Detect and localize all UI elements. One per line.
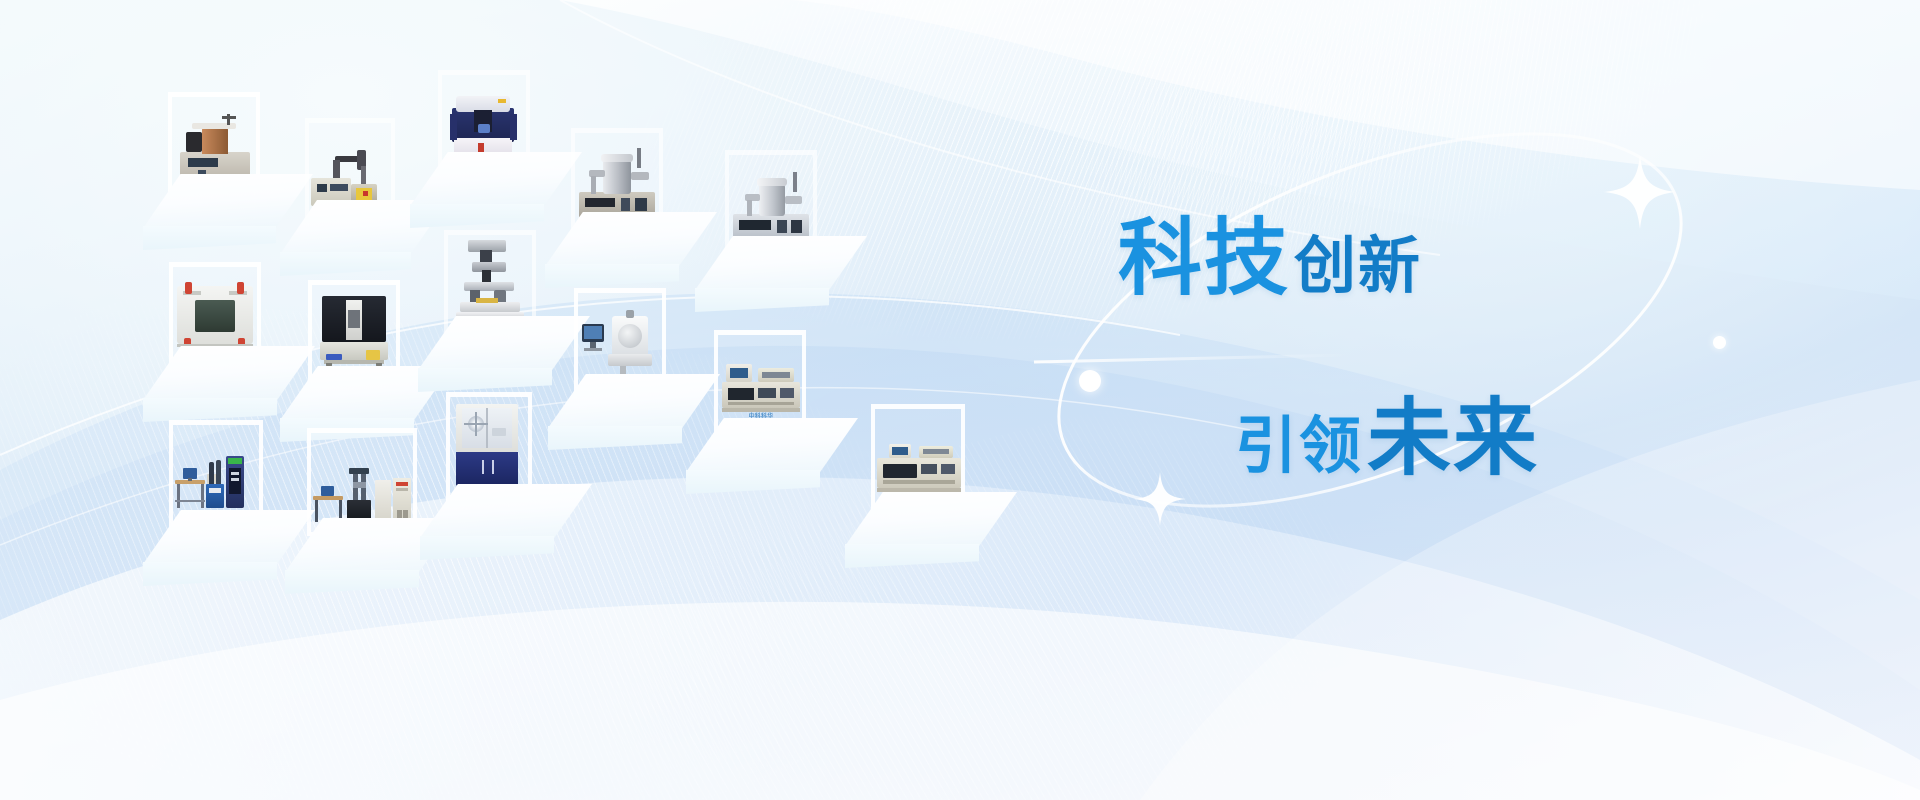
machine-control-console-system: 中科科华 ZHONGKEKEHUA bbox=[875, 438, 963, 500]
headline-line1-strong: 科技 bbox=[1118, 216, 1290, 300]
machine-environmental-test-chamber: 中科科华 ZHONGKEKEHUA bbox=[175, 280, 255, 356]
headline-line-1: 科技 创新 bbox=[1118, 216, 1422, 300]
machine-thermal-conductivity-meter: 中科科华 ZHONGKEKEHUA bbox=[720, 358, 802, 424]
machine-magnetron-sputtering-system: 中科科华 ZHONGKEKEHUA bbox=[731, 166, 813, 246]
machine-metallographic-microscope: 中科科华 ZHONGKEKEHUA bbox=[452, 240, 532, 326]
product-pedestal bbox=[845, 492, 1017, 570]
machine-salt-spray-test-cabinet: 中科科华 ZHONGKEKEHUA bbox=[452, 404, 526, 496]
orbit-end-dot bbox=[1713, 336, 1726, 349]
orbit-node-dot bbox=[1079, 370, 1101, 392]
headline-line2-light: 引领 bbox=[1235, 415, 1363, 477]
headline-line2-strong: 未来 bbox=[1367, 396, 1539, 480]
product-pedestal bbox=[420, 484, 592, 562]
product-card-14[interactable]: 中科科华 ZHONGKEKEHUA bbox=[845, 404, 1035, 570]
product-pedestal bbox=[686, 418, 858, 496]
sparkle-large-top-icon bbox=[1604, 155, 1676, 229]
sparkle-small-bottom-icon bbox=[1134, 472, 1186, 526]
banner-stage: 中科科华 ZHONGKEKEHUA 中科科华 ZHONGKEKEHUA bbox=[0, 0, 1920, 800]
machine-universal-testing-machine: 中科科华 ZHONGKEKEHUA bbox=[314, 294, 394, 376]
headline-line1-light: 创新 bbox=[1294, 235, 1422, 297]
product-card-13[interactable]: 中科科华 ZHONGKEKEHUA bbox=[420, 392, 610, 562]
headline-line-2: 引领 未来 bbox=[1235, 396, 1539, 480]
